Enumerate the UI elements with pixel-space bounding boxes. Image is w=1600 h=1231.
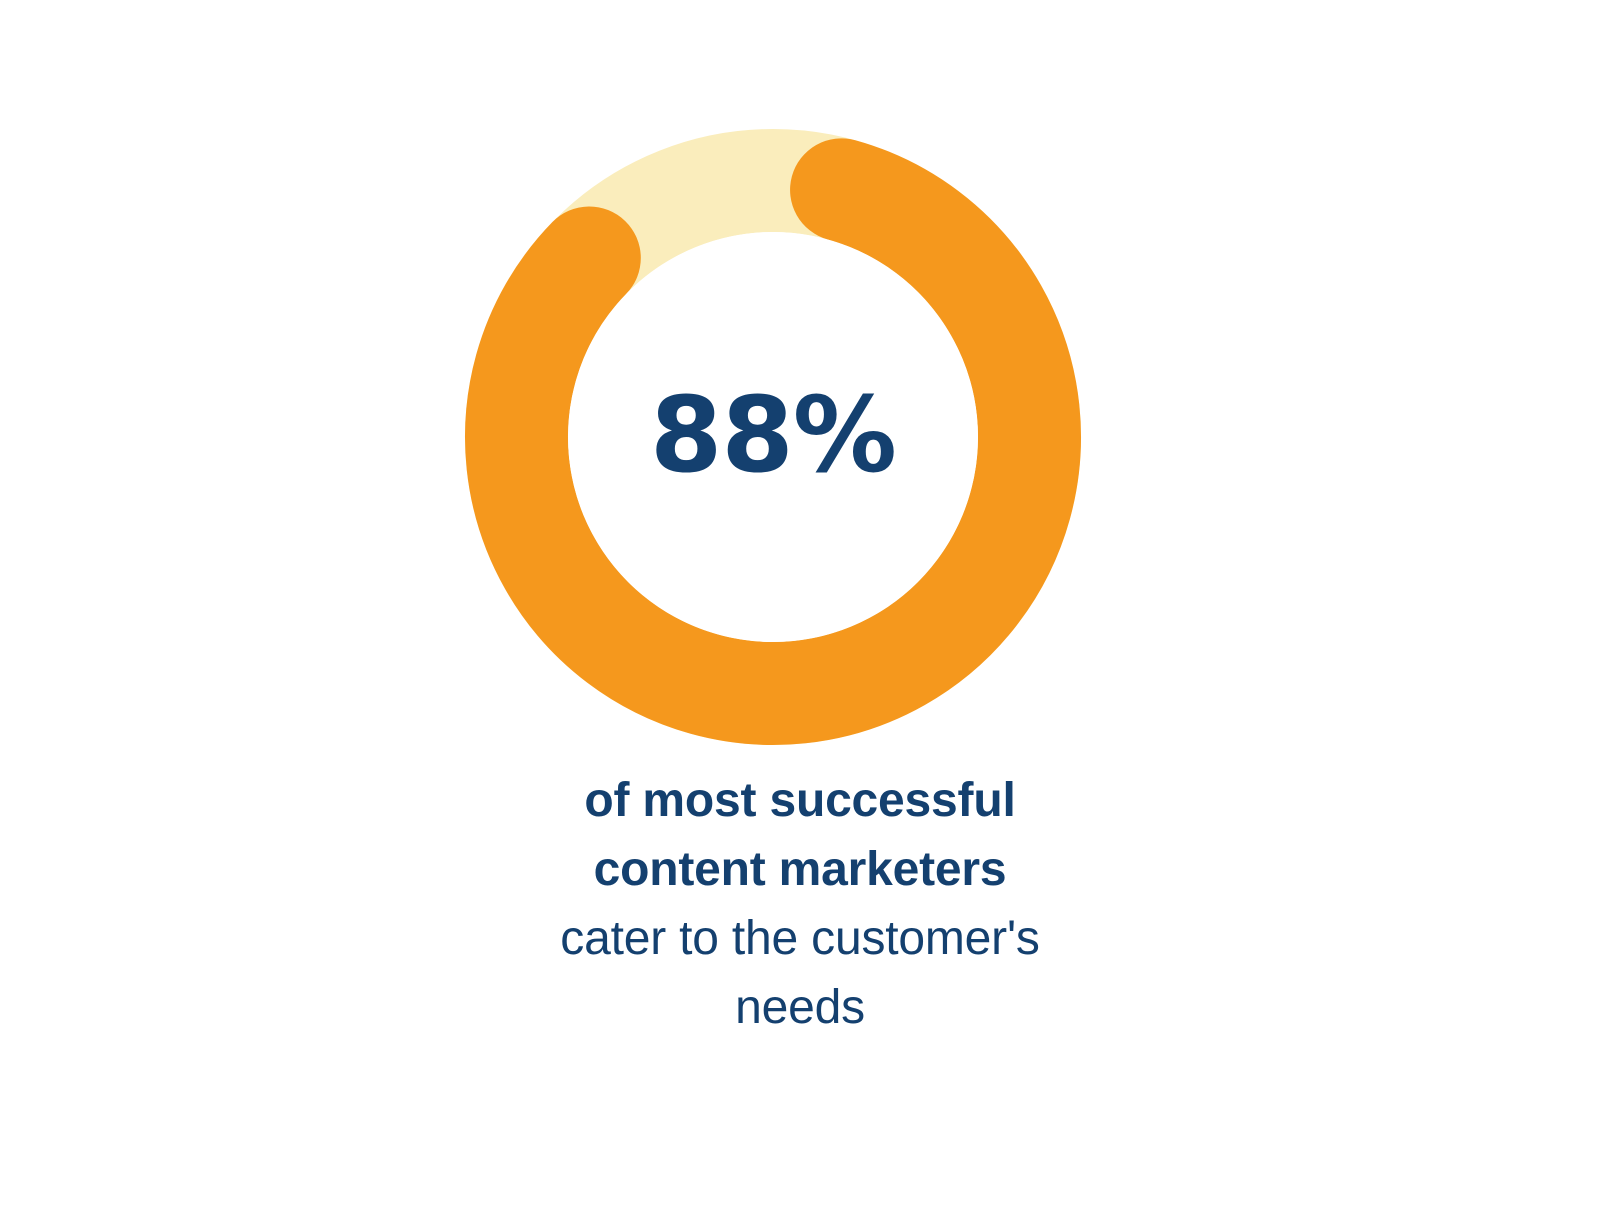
caption-block: of most successful content marketers cat…: [0, 766, 1600, 1042]
caption-line-1: of most successful: [0, 766, 1600, 835]
donut-hole: [568, 232, 978, 642]
infographic-canvas: 88% of most successful content marketers…: [0, 0, 1600, 1231]
caption-line-4: needs: [0, 973, 1600, 1042]
caption-line-3: cater to the customer's: [0, 904, 1600, 973]
donut-chart: 88%: [465, 129, 1081, 745]
donut-chart-svg: [465, 129, 1081, 745]
caption-line-2: content marketers: [0, 835, 1600, 904]
